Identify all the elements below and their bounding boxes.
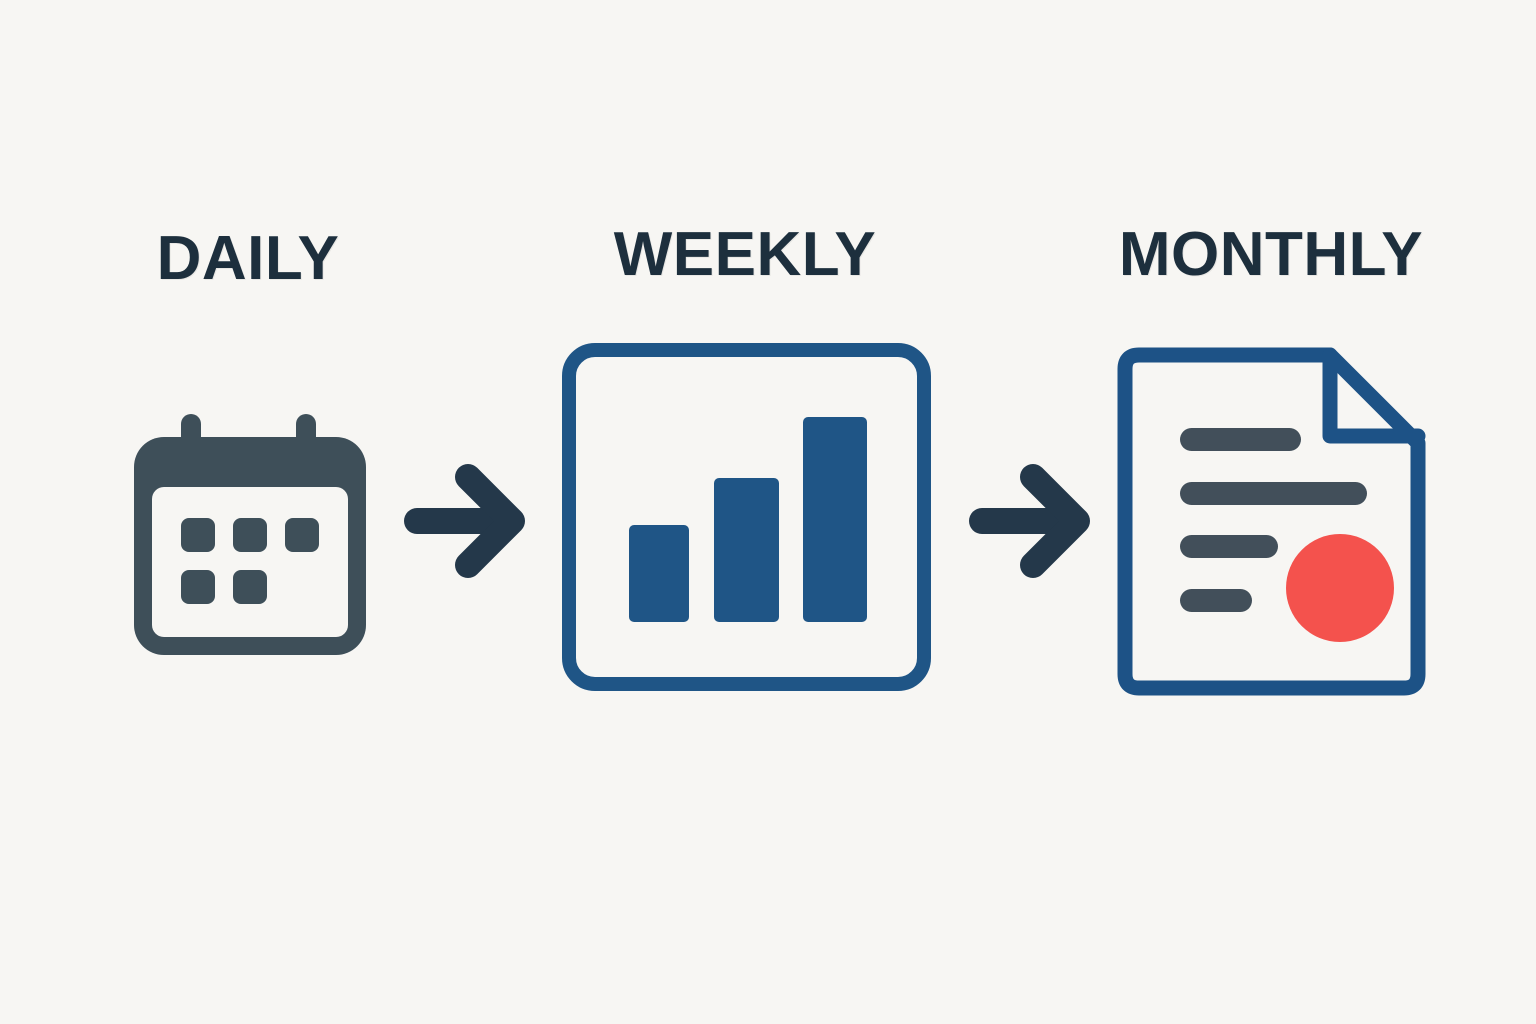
arrow-right-icon[interactable] [982,477,1077,565]
calendar-day-cell [285,518,319,552]
calendar-day-cell [181,570,215,604]
stage-label-daily: DAILY [157,228,340,290]
document-stamp-icon [1286,534,1394,642]
stage-label-weekly: WEEKLY [614,224,877,286]
chart-bar [629,525,689,622]
calendar-icon[interactable] [134,414,366,655]
document-page-outline [1125,355,1418,688]
document-text-line [1180,535,1278,558]
document-text-line [1180,428,1301,451]
process-flow-graphic [0,0,1536,1024]
arrow-right-icon[interactable] [417,477,512,565]
calendar-day-cell [181,518,215,552]
document-text-line [1180,482,1367,505]
chart-bar [714,478,779,622]
bar-chart-icon[interactable] [569,350,924,684]
calendar-day-cell [233,518,267,552]
chart-bar [803,417,867,622]
calendar-page [152,487,348,637]
document-icon[interactable] [1125,355,1418,688]
document-text-line [1180,589,1252,612]
stage-label-monthly: MONTHLY [1119,224,1423,286]
diagram-canvas: DAILY WEEKLY MONTHLY [0,0,1536,1024]
calendar-day-cell [233,570,267,604]
